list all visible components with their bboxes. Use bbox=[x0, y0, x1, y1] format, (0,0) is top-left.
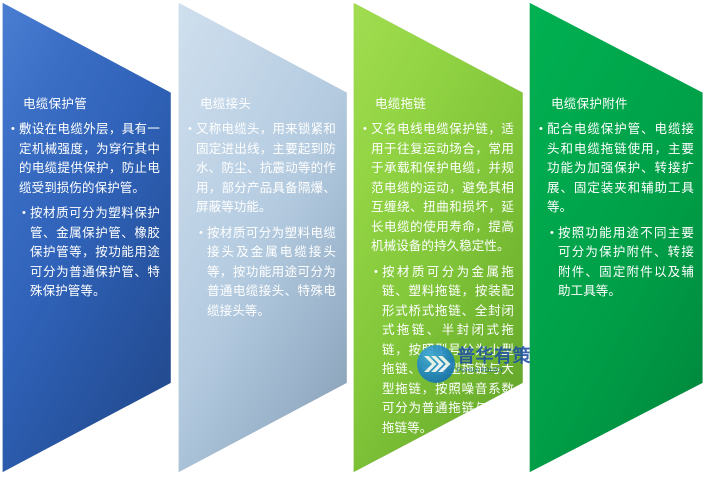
chevron-panel-cable-protection-pipe: 电缆保护管 敷设在电缆外层，具有一定机械强度，为穿行其中的电缆提供保护，防止电缆… bbox=[0, 0, 176, 475]
bullet-item: 按材质可分为金属拖链、塑料拖链，按装配形式桥式拖链、全封闭式拖链、半封闭式拖链，… bbox=[374, 263, 514, 439]
infographic-canvas: 电缆保护管 敷设在电缆外层，具有一定机械强度，为穿行其中的电缆提供保护，防止电缆… bbox=[0, 0, 708, 475]
bullet-item: 又称电缆头，用来锁紧和固定进出线，主要起到防水、防尘、抗震动等的作用，部分产品具… bbox=[188, 120, 336, 218]
panel-title: 电缆接头 bbox=[200, 96, 336, 112]
panel-bullet-list: 敷设在电缆外层，具有一定机械强度，为穿行其中的电缆提供保护，防止电缆受到损伤的保… bbox=[11, 120, 160, 302]
panel-bullet-list: 又称电缆头，用来锁紧和固定进出线，主要起到防水、防尘、抗震动等的作用，部分产品具… bbox=[188, 120, 336, 321]
panel-bullet-list: 又名电线电缆保护链，适用于往复运动场合，常用于承载和保护电缆，并规范电缆的运动，… bbox=[363, 120, 514, 438]
chevron-panel-cable-drag-chain: 电缆拖链 又名电线电缆保护链，适用于往复运动场合，常用于承载和保护电缆，并规范电… bbox=[351, 0, 528, 475]
chevron-panel-cable-joint: 电缆接头 又称电缆头，用来锁紧和固定进出线，主要起到防水、防尘、抗震动等的作用，… bbox=[176, 0, 352, 475]
panel-title: 电缆保护管 bbox=[23, 96, 160, 112]
panel-content: 电缆保护附件 配合电缆保护管、电缆接头和电缆拖链使用，主要功能为加强保护、转接扩… bbox=[539, 96, 694, 302]
panel-title: 电缆拖链 bbox=[375, 96, 514, 112]
bullet-item: 配合电缆保护管、电缆接头和电缆拖链使用，主要功能为加强保护、转接扩展、固定装夹和… bbox=[539, 120, 694, 218]
bullet-item: 按材质可分为塑料保护管、金属保护管、橡胶保护管等，按功能用途可分为普通保护管、特… bbox=[22, 204, 160, 302]
panel-content: 电缆拖链 又名电线电缆保护链，适用于往复运动场合，常用于承载和保护电缆，并规范电… bbox=[363, 96, 514, 438]
bullet-item: 敷设在电缆外层，具有一定机械强度，为穿行其中的电缆提供保护，防止电缆受到损伤的保… bbox=[11, 120, 160, 198]
bullet-item: 按材质可分为塑料电缆接头及金属电缆接头等，按功能用途可分为普通电缆接头、特殊电缆… bbox=[199, 224, 336, 322]
panel-content: 电缆接头 又称电缆头，用来锁紧和固定进出线，主要起到防水、防尘、抗震动等的作用，… bbox=[188, 96, 336, 321]
panel-bullet-list: 配合电缆保护管、电缆接头和电缆拖链使用，主要功能为加强保护、转接扩展、固定装夹和… bbox=[539, 120, 694, 302]
chevron-panel-cable-protection-accessories: 电缆保护附件 配合电缆保护管、电缆接头和电缆拖链使用，主要功能为加强保护、转接扩… bbox=[527, 0, 708, 475]
panel-content: 电缆保护管 敷设在电缆外层，具有一定机械强度，为穿行其中的电缆提供保护，防止电缆… bbox=[11, 96, 160, 302]
bullet-item: 按照功能用途不同主要可分为保护附件、转接附件、固定附件以及辅助工具等。 bbox=[550, 224, 694, 302]
panel-title: 电缆保护附件 bbox=[551, 96, 694, 112]
bullet-item: 又名电线电缆保护链，适用于往复运动场合，常用于承载和保护电缆，并规范电缆的运动，… bbox=[363, 120, 514, 257]
